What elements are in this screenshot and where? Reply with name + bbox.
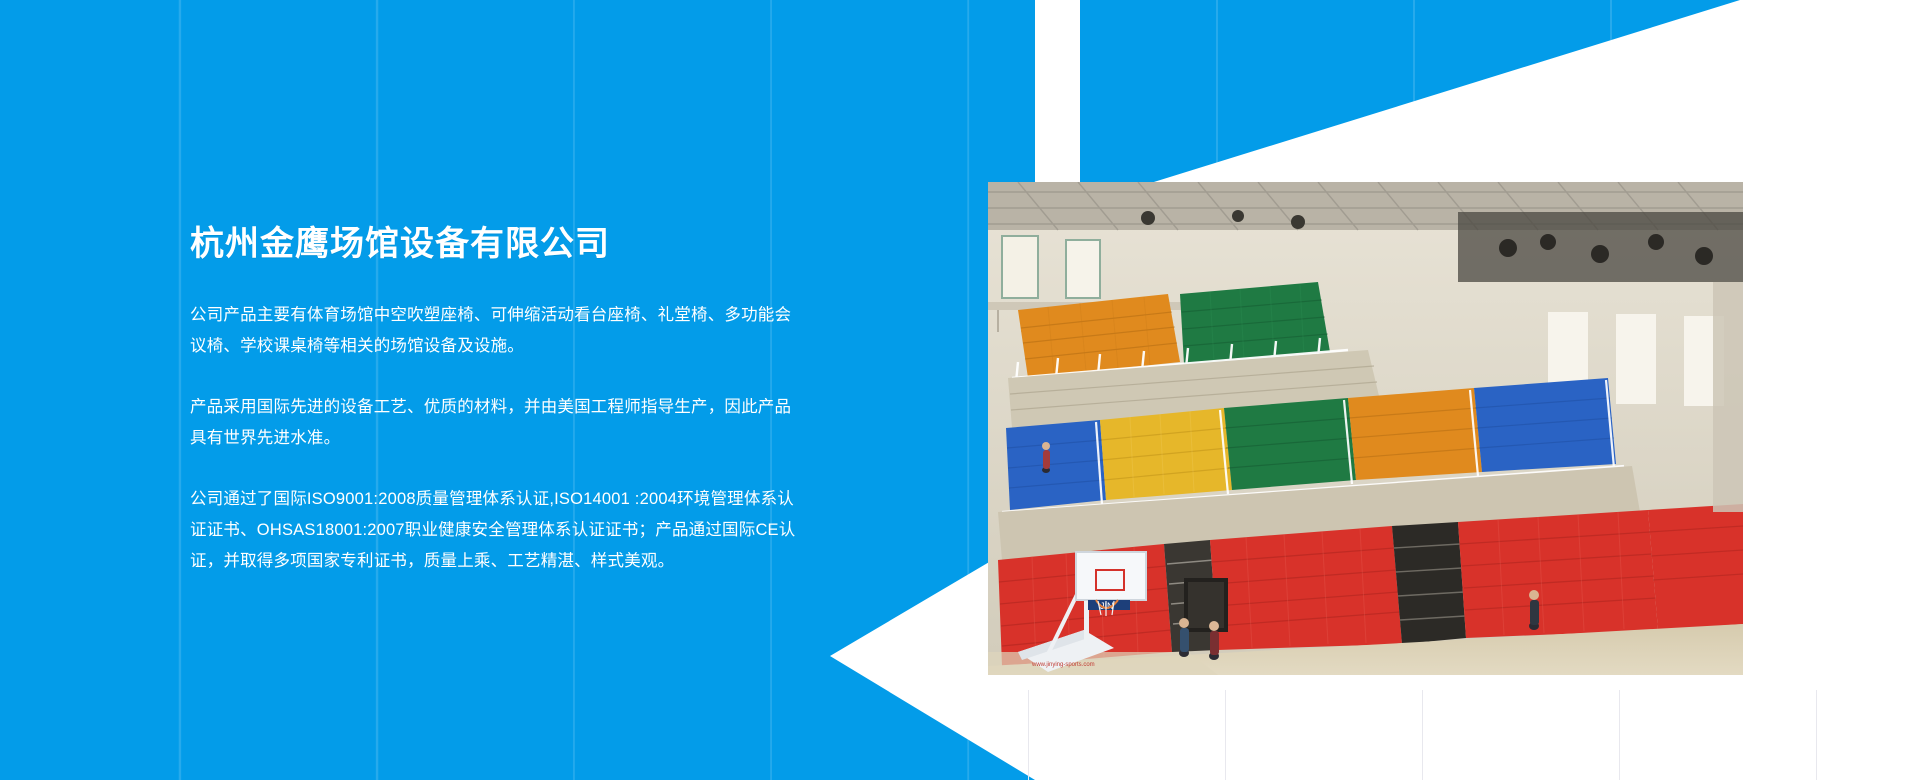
- intro-paragraph-certifications: 公司通过了国际ISO9001:2008质量管理体系认证,ISO14001 :20…: [190, 484, 802, 577]
- white-divider-3: [1422, 690, 1423, 780]
- intro-paragraph-technology: 产品采用国际先进的设备工艺、优质的材料，并由美国工程师指导生产，因此产品具有世界…: [190, 392, 802, 454]
- svg-text:www.jinying-sports.com: www.jinying-sports.com: [1031, 662, 1095, 668]
- hero-banner: JIN www.jinying-sports.com: [0, 0, 1920, 780]
- photo-illustration: JIN www.jinying-sports.com: [988, 182, 1743, 675]
- intro-paragraph-products: 公司产品主要有体育场馆中空吹塑座椅、可伸缩活动看台座椅、礼堂椅、多功能会议椅、学…: [190, 300, 802, 362]
- page-title: 杭州金鹰场馆设备有限公司: [190, 222, 810, 266]
- white-divider-4: [1619, 690, 1620, 780]
- white-divider-5: [1816, 690, 1817, 780]
- gymnasium-retractable-bleachers-photo: JIN www.jinying-sports.com: [988, 182, 1743, 675]
- white-divider-2: [1225, 690, 1226, 780]
- white-divider-1: [1028, 690, 1029, 780]
- hero-text-column: 杭州金鹰场馆设备有限公司 公司产品主要有体育场馆中空吹塑座椅、可伸缩活动看台座椅…: [190, 222, 810, 577]
